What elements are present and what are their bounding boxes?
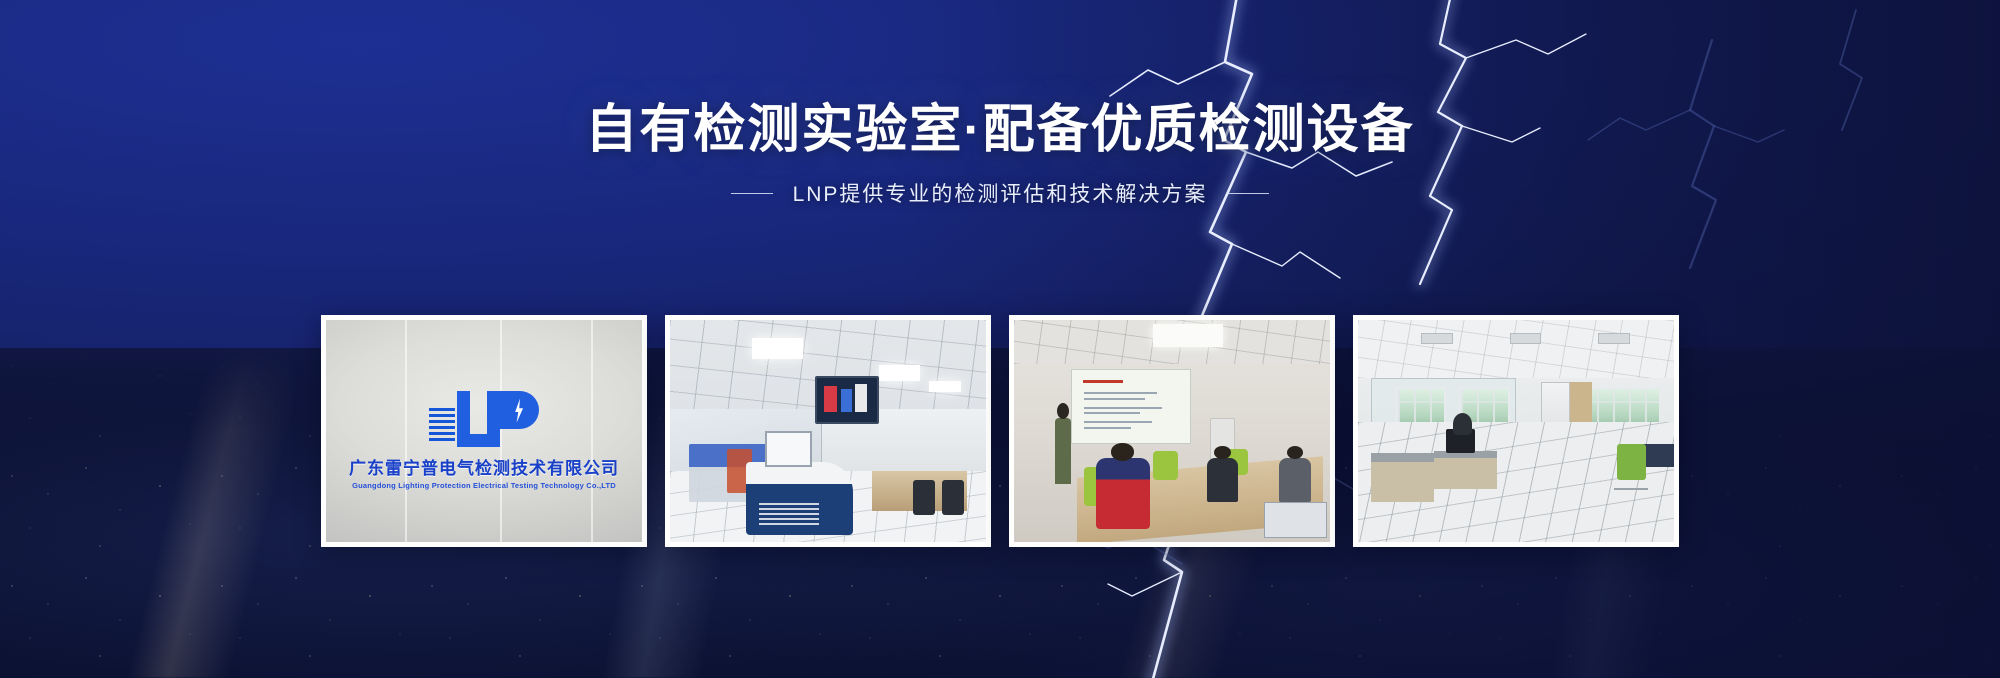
ceiling-grid xyxy=(1358,320,1674,378)
hero-banner: 自有检测实验室·配备优质检测设备 LNP提供专业的检测评估和技术解决方案 xyxy=(0,0,2000,678)
office-desk xyxy=(1371,453,1434,502)
hero-copy: 自有检测实验室·配备优质检测设备 LNP提供专业的检测评估和技术解决方案 xyxy=(0,104,2000,208)
office-chair xyxy=(913,480,935,516)
office-chair xyxy=(942,480,964,516)
ceiling-vent-icon xyxy=(1598,333,1630,344)
lnp-logo-icon xyxy=(429,387,539,447)
console-monitor xyxy=(765,431,812,467)
subtitle-row: LNP提供专业的检测评估和技术解决方案 xyxy=(0,178,2000,208)
ceiling-vent-icon xyxy=(1421,333,1453,344)
ceiling-light-icon xyxy=(879,365,920,381)
seated-person-red-jacket xyxy=(1096,458,1150,529)
lightning-flash-icon xyxy=(513,399,525,423)
photo-meeting-room xyxy=(1014,320,1330,542)
page-subtitle: LNP提供专业的检测评估和技术解决方案 xyxy=(793,178,1208,208)
ceiling-light-icon xyxy=(1153,324,1223,346)
wall-display-screen xyxy=(815,376,878,425)
ceiling-light-icon xyxy=(752,338,803,359)
company-name-cn: 广东雷宁普电气检测技术有限公司 xyxy=(349,454,619,479)
green-chair xyxy=(1153,451,1178,480)
page-title: 自有检测实验室·配备优质检测设备 xyxy=(0,104,2000,156)
presenter-person xyxy=(1055,418,1071,485)
lnp-logo-block: 广东雷宁普电气检测技术有限公司 Guangdong Lighting Prote… xyxy=(326,387,642,490)
photo-office xyxy=(1358,320,1674,542)
photo-logo-wall: 广东雷宁普电气检测技术有限公司 Guangdong Lighting Prote… xyxy=(326,320,642,542)
photo-laboratory xyxy=(670,320,986,542)
company-name-en: Guangdong Lighting Protection Electrical… xyxy=(352,481,616,490)
photo-gallery: 广东雷宁普电气检测技术有限公司 Guangdong Lighting Prote… xyxy=(0,315,2000,547)
ceiling-vent-icon xyxy=(1510,333,1542,344)
gallery-card-logo-wall[interactable]: 广东雷宁普电气检测技术有限公司 Guangdong Lighting Prote… xyxy=(321,315,647,547)
green-chair xyxy=(1617,444,1645,480)
office-desk xyxy=(1434,451,1497,489)
gallery-card-meeting-room[interactable] xyxy=(1009,315,1335,547)
gallery-card-office[interactable] xyxy=(1353,315,1679,547)
gallery-card-laboratory[interactable] xyxy=(665,315,991,547)
control-console xyxy=(746,462,853,535)
seated-person xyxy=(1207,458,1239,502)
logo-bars-icon xyxy=(429,408,455,447)
seated-person xyxy=(1279,458,1311,502)
seated-person xyxy=(1453,413,1472,435)
logo-letter-n-icon xyxy=(457,391,491,447)
projection-screen xyxy=(1071,369,1191,444)
rule-right-icon xyxy=(1227,193,1269,194)
laptop-icon xyxy=(1264,502,1327,538)
ceiling-light-icon xyxy=(929,381,961,393)
rule-left-icon xyxy=(731,193,773,194)
logo-letter-p-icon xyxy=(487,391,539,447)
